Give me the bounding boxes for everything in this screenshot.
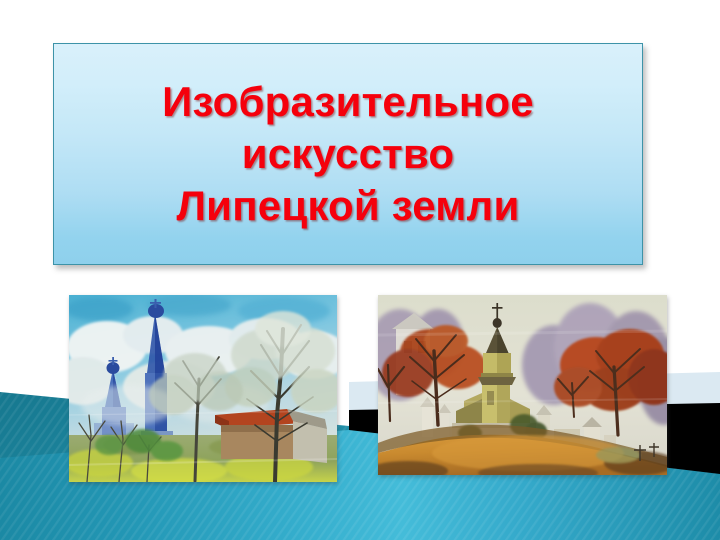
painting-autumn-church [378, 295, 667, 475]
title-box: Изобразительное искусство Липецкой земли [53, 43, 643, 265]
page-title: Изобразительное искусство Липецкой земли [54, 76, 642, 232]
presentation-slide: Изобразительное искусство Липецкой земли [0, 0, 720, 540]
painting-spring-church [69, 295, 337, 482]
